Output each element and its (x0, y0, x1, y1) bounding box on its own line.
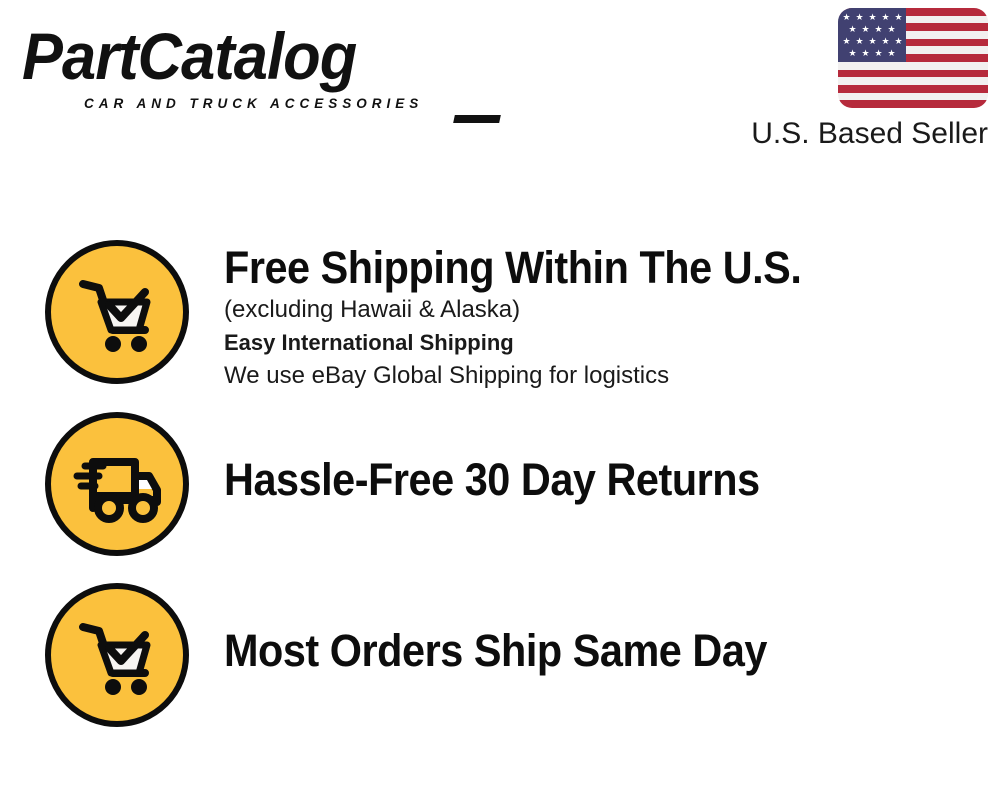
feature-text-same-day: Most Orders Ship Same Day (189, 583, 1000, 677)
delivery-truck-icon (45, 412, 189, 556)
flag-star: ★ (887, 25, 896, 34)
flag-star: ★ (881, 37, 890, 46)
flag-star: ★ (855, 37, 864, 46)
flag-star: ★ (848, 25, 857, 34)
feature-heading: Hassle-Free 30 Day Returns (224, 454, 938, 506)
flag-stripe (838, 100, 988, 108)
flag-stripe (838, 62, 988, 70)
flag-star: ★ (842, 13, 851, 22)
brand-tagline: CAR AND TRUCK ACCESSORIES (84, 96, 423, 111)
flag-star: ★ (868, 13, 877, 22)
brand-logo[interactable]: PartCatalog CAR AND TRUCK ACCESSORIES (22, 20, 492, 120)
flag-star: ★ (881, 13, 890, 22)
shopping-cart-check-icon (45, 583, 189, 727)
flag-star: ★ (861, 49, 870, 58)
flag-star: ★ (894, 13, 903, 22)
feature-heading: Most Orders Ship Same Day (224, 625, 938, 677)
flag-star: ★ (894, 37, 903, 46)
flag-stripe (838, 93, 988, 101)
flag-star: ★ (842, 37, 851, 46)
logo-swash-decoration (453, 115, 501, 123)
flag-star: ★ (848, 49, 857, 58)
shopping-cart-check-icon (45, 240, 189, 384)
flag-stripe (838, 85, 988, 93)
flag-stripe (838, 77, 988, 85)
feature-subtext-exclusions: (excluding Hawaii & Alaska) (224, 294, 1000, 326)
page-header: PartCatalog CAR AND TRUCK ACCESSORIES ★ … (0, 0, 1000, 175)
feature-row-free-shipping: Free Shipping Within The U.S. (excluding… (0, 240, 1000, 392)
feature-row-returns: Hassle-Free 30 Day Returns (0, 412, 1000, 556)
feature-text-free-shipping: Free Shipping Within The U.S. (excluding… (189, 240, 1000, 392)
us-flag-icon: ★ ★ ★ ★ ★ ★ ★ ★ ★ ★ ★ ★ ★ ★ ★ ★ ★ ★ (838, 8, 988, 108)
feature-subtext-international-detail: We use eBay Global Shipping for logistic… (224, 360, 1000, 392)
feature-subtext-international-heading: Easy International Shipping (224, 326, 1000, 360)
flag-canton: ★ ★ ★ ★ ★ ★ ★ ★ ★ ★ ★ ★ ★ ★ ★ ★ ★ ★ (838, 8, 906, 62)
seller-label: U.S. Based Seller (718, 116, 988, 152)
us-based-seller-badge: ★ ★ ★ ★ ★ ★ ★ ★ ★ ★ ★ ★ ★ ★ ★ ★ ★ ★ U.S.… (718, 8, 988, 152)
flag-star: ★ (855, 13, 864, 22)
flag-stripe (838, 70, 988, 78)
feature-row-same-day-shipping: Most Orders Ship Same Day (0, 583, 1000, 727)
feature-heading: Free Shipping Within The U.S. (224, 242, 938, 294)
feature-text-returns: Hassle-Free 30 Day Returns (189, 412, 1000, 506)
flag-star: ★ (874, 25, 883, 34)
flag-star: ★ (887, 49, 896, 58)
flag-star: ★ (868, 37, 877, 46)
flag-star: ★ (874, 49, 883, 58)
flag-star: ★ (861, 25, 870, 34)
brand-wordmark: PartCatalog (22, 20, 459, 92)
